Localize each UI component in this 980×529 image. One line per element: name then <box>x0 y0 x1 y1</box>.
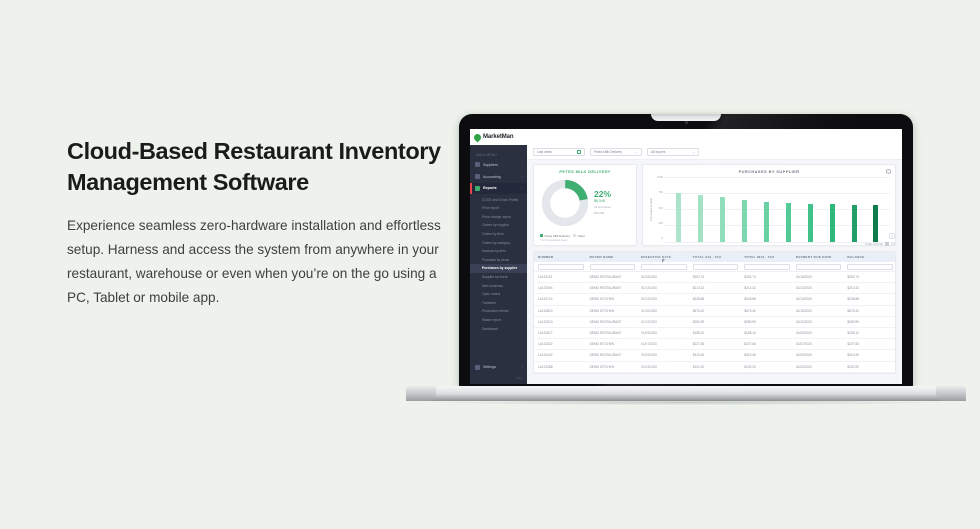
bar[interactable] <box>720 197 725 242</box>
table-row[interactable]: LA130810DEMO KITCHEN01/10/2020$675.40$67… <box>534 305 895 316</box>
brand-name: MarketMan <box>483 134 513 140</box>
table-cell: LA131288 <box>534 361 586 372</box>
grid-icon[interactable] <box>885 242 889 246</box>
column-filter-input[interactable] <box>744 264 790 270</box>
sidebar-section-label: MAIN MENU <box>470 150 527 159</box>
column-filter-input[interactable] <box>641 264 687 270</box>
sidebar-report-item[interactable]: Item summary <box>470 281 527 290</box>
table-cell: $310.45 <box>689 350 741 361</box>
table-cell: 01/10/2020 <box>637 305 689 316</box>
y-axis-ticks: 1000 750 500 250 0 <box>653 175 665 240</box>
sidebar-report-item[interactable]: Purchase by items <box>470 256 527 265</box>
y-tick: 250 <box>658 221 663 225</box>
table-cell: $392.74 <box>689 272 741 283</box>
bar[interactable] <box>764 202 769 242</box>
sidebar-report-item[interactable]: Transfers <box>470 298 527 307</box>
table-cell: 01/03/2020 <box>792 361 844 372</box>
bar[interactable] <box>698 195 703 242</box>
table-cell: 01/09/2020 <box>637 327 689 338</box>
table-cell: LA132714 <box>534 294 586 305</box>
donut-footnote: * for the selected buyer <box>538 238 632 243</box>
column-filter-input[interactable] <box>796 264 842 270</box>
column-filter-input[interactable] <box>538 264 584 270</box>
sidebar-item-label: Suppliers <box>483 163 519 167</box>
table-cell: DEMO RESTAURANT <box>586 283 638 294</box>
sidebar-item-label: Settings <box>483 365 519 369</box>
date-range-filter[interactable]: Last week <box>533 148 585 156</box>
table-cell: $310.45 <box>843 350 895 361</box>
table-cell: DEMO KITCHEN <box>586 294 638 305</box>
table-row[interactable]: LA131402DEMO RESTAURANT01/05/2020$310.45… <box>534 350 895 361</box>
table-cell: 01/14/2020 <box>637 294 689 305</box>
chevron-down-icon: ⌄ <box>692 150 695 154</box>
donut-percent: 22% <box>594 190 611 199</box>
bar[interactable] <box>676 193 681 242</box>
table-cell: LA131622 <box>534 339 586 350</box>
buyers-value: All buyers <box>651 150 689 154</box>
table-cell: 01/15/2020 <box>637 272 689 283</box>
table-cell: $248.88 <box>740 294 792 305</box>
table-cell: DEMO KITCHEN <box>586 305 638 316</box>
sidebar-report-item[interactable]: Waste report <box>470 316 527 325</box>
donut-amount: $6,546 <box>594 199 611 203</box>
column-header[interactable]: TOTAL EXL. TAX <box>689 252 741 262</box>
bar-series <box>665 177 890 242</box>
chevron-right-icon: › <box>522 163 523 167</box>
filter-cell[interactable] <box>843 262 895 272</box>
chevron-down-icon: ⌄ <box>520 186 523 190</box>
table-cell: 01/14/2020 <box>792 294 844 305</box>
page-root: Cloud-Based Restaurant Inventory Managem… <box>0 0 980 529</box>
sidebar-item-label: Accounting <box>483 175 519 179</box>
column-header[interactable]: BALANCE <box>843 252 895 262</box>
table-cell: LA132115 <box>534 272 586 283</box>
table-cell: 01/07/2020 <box>792 339 844 350</box>
table-row[interactable]: LA132094DEMO RESTAURANT01/13/2020$214.32… <box>534 283 895 294</box>
filter-cell[interactable] <box>689 262 741 272</box>
accounting-icon <box>475 174 480 179</box>
table-cell: 01/09/2020 <box>792 327 844 338</box>
donut-chart-body: 22% $6,546 All purchases $28,008 <box>538 174 632 232</box>
buyers-filter[interactable]: All buyers ⌄ <box>647 148 699 156</box>
table-cell: DEMO KITCHEN <box>586 361 638 372</box>
marketman-app: MarketMan MAIN MENU Suppliers › <box>470 129 902 384</box>
bar[interactable] <box>873 205 878 242</box>
filter-cell[interactable] <box>586 262 638 272</box>
table-cell: $214.32 <box>843 283 895 294</box>
donut-stats: 22% $6,546 All purchases $28,008 <box>590 190 611 216</box>
donut-chart-card: PETES MILK DELIVERY 22% $6,5 <box>533 164 637 246</box>
table-cell: DEMO RESTAURANT <box>586 350 638 361</box>
chart-menu-icon[interactable] <box>886 169 891 174</box>
chart-row: PETES MILK DELIVERY 22% $6,5 <box>533 164 896 246</box>
sidebar-report-item[interactable]: Orders by supplier <box>470 221 527 230</box>
gear-icon <box>475 365 480 370</box>
table-header-row: NUMBER BUYER NAME EFFECTIVE DATE TOTAL E… <box>534 252 895 262</box>
donut-note-1: All purchases <box>594 206 611 210</box>
table-cell: $310.45 <box>740 350 792 361</box>
mouse-cursor-icon <box>662 259 667 263</box>
table-row[interactable]: LA132714DEMO KITCHEN01/14/2020$248.88$24… <box>534 294 895 305</box>
table-cell: 01/07/2020 <box>637 339 689 350</box>
column-filter-input[interactable] <box>847 264 893 270</box>
list-icon[interactable] <box>891 242 895 246</box>
table-cell: 01/12/2020 <box>792 316 844 327</box>
chevron-right-icon: › <box>522 175 523 179</box>
main-area: ‹ PURCHASES BY SUPPLIER Refer a friend G… <box>527 129 902 384</box>
laptop-shadow <box>420 400 952 405</box>
calendar-icon <box>577 150 581 154</box>
table-row[interactable]: LA131877DEMO RESTAURANT01/09/2020$158.10… <box>534 327 895 338</box>
column-header[interactable]: BUYER NAME <box>586 252 638 262</box>
sidebar-report-item[interactable]: Production events <box>470 307 527 316</box>
table-cell: 01/10/2020 <box>792 305 844 316</box>
sidebar-report-list: COGS and Gross Profits Price report Pric… <box>470 194 527 337</box>
supplier-value: Petes Milk Delivery <box>594 150 632 154</box>
table-cell: $280.99 <box>689 316 741 327</box>
table-cell: 01/05/2020 <box>637 350 689 361</box>
column-filter-input[interactable] <box>693 264 739 270</box>
table-row[interactable]: LA131622DEMO KITCHEN01/07/2020$227.65$22… <box>534 339 895 350</box>
table-body: LA132115DEMO RESTAURANT01/15/2020$392.74… <box>534 272 895 373</box>
table-row[interactable]: LA132013DEMO RESTAURANT01/12/2020$280.99… <box>534 316 895 327</box>
page-subcopy: Experience seamless zero-hardware instal… <box>67 214 442 311</box>
table-cell: $214.32 <box>740 283 792 294</box>
table-cell: $248.88 <box>843 294 895 305</box>
table-cell: DEMO RESTAURANT <box>586 272 638 283</box>
sidebar-item-reports[interactable]: Reports ⌄ <box>470 183 527 195</box>
reports-icon <box>475 186 480 191</box>
column-header[interactable]: TOTAL INCL. TAX <box>740 252 792 262</box>
brand-bar: MarketMan <box>470 129 902 145</box>
table-cell: 01/03/2020 <box>637 361 689 372</box>
laptop-notch <box>651 114 721 121</box>
column-header[interactable]: NUMBER <box>534 252 586 262</box>
filter-bar: Last week Petes Milk Delivery ⌄ All buye… <box>527 145 902 160</box>
y-tick: 750 <box>658 190 663 194</box>
table-cell: $192.20 <box>740 361 792 372</box>
bar-chart-card: PURCHASES BY SUPPLIER Purchases $ value … <box>642 164 896 246</box>
table-cell: $227.65 <box>689 339 741 350</box>
report-content: PETES MILK DELIVERY 22% $6,5 <box>527 160 902 384</box>
supplier-filter[interactable]: Petes Milk Delivery ⌄ <box>590 148 642 156</box>
table-cell: $192.20 <box>689 361 741 372</box>
table-filter-row <box>534 262 895 272</box>
y-tick: 500 <box>658 206 663 210</box>
sidebar-item-label: Reports <box>483 186 517 190</box>
sidebar-item-settings[interactable]: Settings › <box>470 361 527 373</box>
table-cell: 01/15/2020 <box>792 272 844 283</box>
bar[interactable] <box>808 204 813 242</box>
sidebar-item-accounting[interactable]: Accounting › <box>470 171 527 183</box>
donut-chart-svg <box>540 178 590 228</box>
laptop-lid: MarketMan MAIN MENU Suppliers › <box>459 114 913 390</box>
filter-cell[interactable] <box>637 262 689 272</box>
filter-cell[interactable] <box>534 262 586 272</box>
sidebar-report-item[interactable]: Invoices by item <box>470 247 527 256</box>
laptop-base <box>406 386 966 401</box>
table-cell: $158.10 <box>689 327 741 338</box>
sidebar-report-item[interactable]: Orders by category <box>470 238 527 247</box>
table-cell: $280.99 <box>740 316 792 327</box>
table-cell: $158.10 <box>740 327 792 338</box>
sidebar-report-item[interactable]: Supplier by event <box>470 273 527 282</box>
invoice-table: NUMBER BUYER NAME EFFECTIVE DATE TOTAL E… <box>534 252 895 373</box>
webcam-icon <box>685 121 688 124</box>
bar[interactable] <box>786 203 791 242</box>
table-cell: LA130810 <box>534 305 586 316</box>
table-cell: DEMO RESTAURANT <box>586 316 638 327</box>
sidebar-bottom: Settings › v5.1 <box>470 361 527 384</box>
table-row[interactable]: LA132115DEMO RESTAURANT01/15/2020$392.74… <box>534 272 895 283</box>
sidebar-report-item[interactable]: Orders by item <box>470 230 527 239</box>
laptop-mockup: MarketMan MAIN MENU Suppliers › <box>406 114 966 414</box>
chevron-right-icon: › <box>522 365 523 369</box>
filter-cell[interactable] <box>792 262 844 272</box>
table-cell: $214.32 <box>689 283 741 294</box>
invoice-table-card: NUMBER BUYER NAME EFFECTIVE DATE TOTAL E… <box>533 251 896 374</box>
table-cell: DEMO KITCHEN <box>586 339 638 350</box>
page-title: Cloud-Based Restaurant Inventory Managem… <box>67 136 442 199</box>
table-cell: $280.99 <box>843 316 895 327</box>
sidebar-item-suppliers[interactable]: Suppliers › <box>470 159 527 171</box>
download-button[interactable]: ⤓ <box>889 233 895 239</box>
bar[interactable] <box>830 204 835 242</box>
table-cell: DEMO RESTAURANT <box>586 327 638 338</box>
date-range-value: Last week <box>537 150 574 154</box>
sidebar-scroll: MAIN MENU Suppliers › Accounting › <box>470 132 527 337</box>
table-cell: $158.10 <box>843 327 895 338</box>
y-tick: 1000 <box>657 175 663 179</box>
table-cell: LA132094 <box>534 283 586 294</box>
sidebar-report-item-selected[interactable]: Purchases by supplier <box>470 264 527 273</box>
table-cell: $227.65 <box>740 339 792 350</box>
marketing-copy: Cloud-Based Restaurant Inventory Managem… <box>67 136 442 310</box>
leaf-icon <box>473 132 483 142</box>
table-cell: LA131402 <box>534 350 586 361</box>
sidebar-report-item[interactable]: COGS and Gross Profits <box>470 195 527 204</box>
table-cell: $675.40 <box>740 305 792 316</box>
sidebar-report-item[interactable]: Dashboard <box>470 324 527 333</box>
table-cell: $248.88 <box>689 294 741 305</box>
sidebar-report-item[interactable]: Price change report <box>470 213 527 222</box>
table-cell: 01/05/2020 <box>792 350 844 361</box>
table-cell: 01/13/2020 <box>792 283 844 294</box>
table-cell: $192.20 <box>843 361 895 372</box>
table-cell: LA131877 <box>534 327 586 338</box>
table-cell: 01/12/2020 <box>637 316 689 327</box>
sidebar-report-item[interactable]: Open orders <box>470 290 527 299</box>
column-header[interactable]: PAYMENT DUE DATE <box>792 252 844 262</box>
suppliers-icon <box>475 162 480 167</box>
table-cell: $392.74 <box>843 272 895 283</box>
y-tick: 0 <box>661 236 663 240</box>
column-filter-input[interactable] <box>590 264 636 270</box>
bar[interactable] <box>742 200 747 242</box>
totals-toggle[interactable]: Totals with tax <box>865 242 895 246</box>
bar-chart-plot: Purchases $ value 1000 750 500 250 0 <box>648 174 890 242</box>
table-row[interactable]: LA131288DEMO KITCHEN01/03/2020$192.20$19… <box>534 361 895 372</box>
totals-label: Totals with tax <box>865 242 883 246</box>
table-cell: LA132013 <box>534 316 586 327</box>
table-cell: $675.40 <box>689 305 741 316</box>
sidebar-report-item[interactable]: Price report <box>470 204 527 213</box>
sidebar: MAIN MENU Suppliers › Accounting › <box>470 129 527 384</box>
app-version: v5.1 <box>470 373 527 380</box>
table-cell: $675.40 <box>843 305 895 316</box>
table-cell: 01/13/2020 <box>637 283 689 294</box>
donut-note-2: $28,008 <box>594 212 611 216</box>
table-cell: $392.74 <box>740 272 792 283</box>
laptop-screen: MarketMan MAIN MENU Suppliers › <box>470 129 902 384</box>
table-cell: $227.65 <box>843 339 895 350</box>
chevron-down-icon: ⌄ <box>635 150 638 154</box>
bar-plot-area <box>665 177 890 242</box>
filter-cell[interactable] <box>740 262 792 272</box>
bar[interactable] <box>852 205 857 242</box>
